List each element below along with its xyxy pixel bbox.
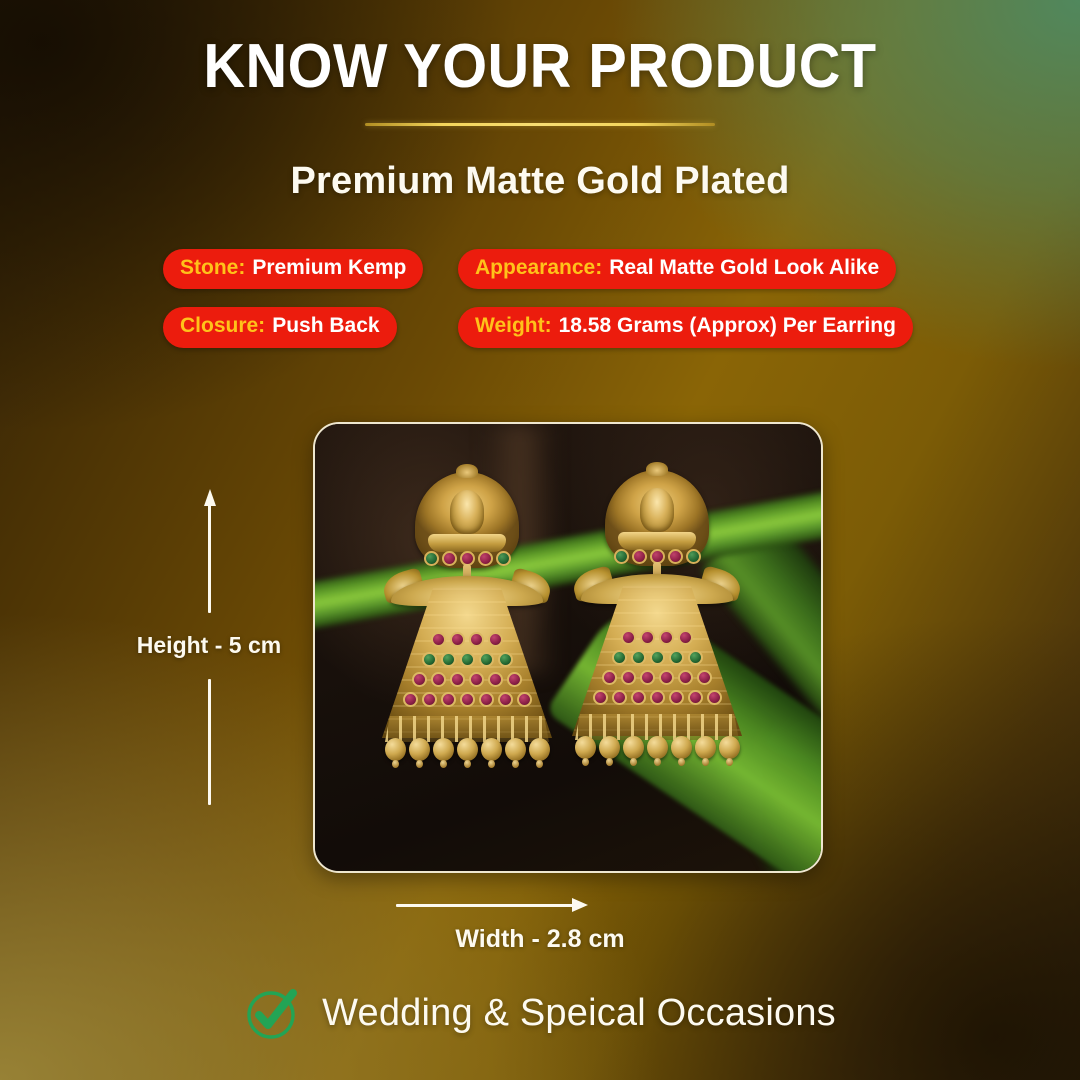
footer-text: Wedding & Speical Occasions <box>322 992 836 1035</box>
page-title: KNOW YOUR PRODUCT <box>38 34 1042 99</box>
gemstone <box>668 549 683 564</box>
gemstone <box>614 549 629 564</box>
spec-label: Appearance: <box>475 255 602 281</box>
arrow-head-right-icon <box>572 898 588 912</box>
bead-fringe <box>379 738 555 761</box>
width-label: Width - 2.8 cm <box>0 925 1080 954</box>
lakshmi-motif <box>640 488 674 532</box>
spec-value: Premium Kemp <box>252 255 406 281</box>
page-subtitle: Premium Matte Gold Plated <box>0 160 1080 203</box>
gem-band <box>609 630 705 645</box>
gem-band <box>579 690 735 705</box>
spec-label: Stone: <box>180 255 245 281</box>
lakshmi-motif <box>450 490 484 534</box>
spec-row: Stone: Premium Kemp Appearance: Real Mat… <box>163 249 953 289</box>
stud-crown <box>646 462 668 476</box>
stud-base <box>428 534 506 552</box>
spec-badge-closure: Closure: Push Back <box>163 307 397 347</box>
header: KNOW YOUR PRODUCT <box>0 34 1080 126</box>
spec-row: Closure: Push Back Weight: 18.58 Grams (… <box>163 307 953 347</box>
stud-base <box>618 532 696 550</box>
gem-band <box>407 652 527 667</box>
gem-band <box>397 672 537 687</box>
gemstone <box>632 549 647 564</box>
check-circle-icon <box>244 985 300 1041</box>
gem-band <box>419 632 515 647</box>
gemstone <box>442 551 457 566</box>
earring-stud <box>415 472 519 568</box>
spec-value: Push Back <box>272 313 379 339</box>
gemstone <box>686 549 701 564</box>
spec-label: Closure: <box>180 313 265 339</box>
spec-value: 18.58 Grams (Approx) Per Earring <box>559 313 896 339</box>
spec-badge-weight: Weight: 18.58 Grams (Approx) Per Earring <box>458 307 913 347</box>
product-infographic-poster: KNOW YOUR PRODUCT Premium Matte Gold Pla… <box>0 0 1080 1080</box>
height-label: Height - 5 cm <box>0 632 418 659</box>
earring-stud <box>605 470 709 566</box>
width-arrow-icon <box>396 898 588 912</box>
gemstone <box>478 551 493 566</box>
gemstone <box>496 551 511 566</box>
spec-badge-stone: Stone: Premium Kemp <box>163 249 423 289</box>
spec-label: Weight: <box>475 313 552 339</box>
bead-fringe <box>569 736 745 759</box>
gem-band <box>587 670 727 685</box>
stud-crown <box>456 464 478 478</box>
gem-band <box>389 692 545 707</box>
title-divider <box>365 123 715 126</box>
spec-badge-group: Stone: Premium Kemp Appearance: Real Mat… <box>163 249 953 366</box>
earring-right <box>569 470 745 800</box>
gemstone <box>424 551 439 566</box>
gem-band <box>597 650 717 665</box>
footer: Wedding & Speical Occasions <box>0 985 1080 1041</box>
spec-value: Real Matte Gold Look Alike <box>609 255 879 281</box>
spec-badge-appearance: Appearance: Real Matte Gold Look Alike <box>458 249 896 289</box>
